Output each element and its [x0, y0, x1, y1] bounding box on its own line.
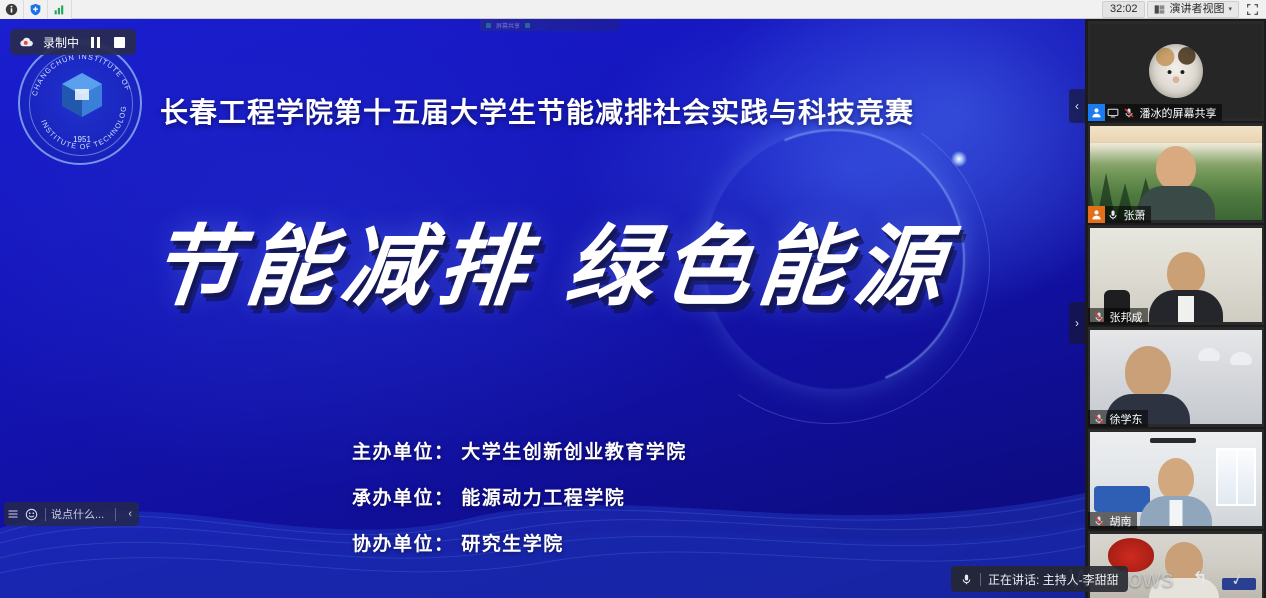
presenter-view-label: 演讲者视图: [1169, 3, 1224, 16]
mic-muted-icon: [1091, 308, 1107, 325]
shield-plus-icon[interactable]: [24, 0, 48, 19]
screen-share-icon: [1105, 104, 1121, 121]
mic-muted-icon: [1091, 512, 1107, 529]
participant-icon: [1088, 104, 1105, 121]
toolbar-left-icons: [0, 0, 72, 19]
participant-name: 胡南: [1107, 513, 1132, 529]
emoji-icon[interactable]: [22, 502, 40, 526]
toolbar-right-controls: 32:02 演讲者视图 ▾: [1102, 0, 1266, 19]
mic-icon: [960, 573, 973, 586]
logo-year: 1951: [73, 135, 91, 144]
participant-name: 张萧: [1121, 207, 1146, 223]
participant-tile[interactable]: 张邦成: [1088, 225, 1264, 325]
participant-tile[interactable]: 徐学东: [1088, 327, 1264, 427]
organizer-line: 承办单位： 能源动力工程学院: [352, 483, 687, 510]
tile-badges: 潘冰的屏幕共享: [1088, 104, 1222, 121]
panel-expand-chevron[interactable]: ›: [1069, 302, 1085, 344]
speaking-status-bar: 正在讲话: 主持人-李甜甜: [951, 566, 1128, 592]
mic-muted-icon: [1091, 410, 1107, 427]
cloud-record-icon: [19, 36, 34, 49]
info-icon[interactable]: [0, 0, 24, 19]
layout-icon: [1154, 4, 1165, 15]
shared-app-toolbar-hint: 屏幕共享: [480, 19, 620, 31]
organizer-line: 协办单位： 研究生学院: [352, 529, 687, 556]
person-silhouette: [1149, 252, 1223, 322]
recording-label: 录制中: [43, 34, 79, 51]
chat-input-placeholder[interactable]: 说点什么...: [51, 506, 110, 522]
pause-recording-button[interactable]: [88, 35, 103, 50]
participant-tile[interactable]: 张萧: [1088, 123, 1264, 223]
shared-screen-slide: 屏幕共享 CHANGCHU: [0, 19, 1085, 598]
participant-panel[interactable]: 潘冰的屏幕共享 张萧: [1085, 19, 1266, 598]
fullscreen-icon[interactable]: [1241, 1, 1263, 18]
slide-title: 长春工程学院第十五届大学生节能减排社会实践与科技竞赛: [160, 91, 1030, 131]
host-icon: [1088, 206, 1105, 223]
list-icon[interactable]: [4, 502, 22, 526]
stop-recording-button[interactable]: [112, 35, 127, 50]
person-silhouette: [1140, 458, 1212, 526]
mic-muted-icon: [1121, 104, 1137, 121]
meeting-timer: 32:02: [1102, 1, 1146, 18]
tile-badges: 张邦成: [1088, 308, 1148, 325]
tile-badges: 徐学东: [1088, 410, 1148, 427]
university-logo: CHANGCHUN INSTITUTE OF INSTITUTE OF TECH…: [18, 41, 142, 165]
chevron-left-icon[interactable]: ‹: [121, 502, 139, 526]
participant-name: 徐学东: [1107, 411, 1143, 427]
speaking-text: 正在讲话: 主持人-李甜甜: [988, 571, 1119, 588]
tile-badges: 胡南: [1088, 512, 1137, 529]
chat-input-bar[interactable]: 说点什么... ‹: [4, 502, 139, 526]
presenter-view-dropdown[interactable]: 演讲者视图 ▾: [1147, 1, 1239, 18]
meeting-window: 32:02 演讲者视图 ▾ 屏幕共享: [0, 0, 1266, 598]
participant-tile[interactable]: 胡南: [1088, 429, 1264, 529]
tile-badges: 张萧: [1088, 206, 1151, 223]
recording-indicator: 录制中: [10, 29, 136, 55]
slide-spark: [951, 151, 967, 167]
participant-name: 潘冰的屏幕共享: [1137, 105, 1217, 121]
mic-icon: [1105, 206, 1121, 223]
undo-arrow-icon[interactable]: ↰: [1192, 568, 1208, 591]
participant-name: 张邦成: [1107, 309, 1143, 325]
top-toolbar: 32:02 演讲者视图 ▾: [0, 0, 1266, 19]
cube-emblem: [62, 73, 102, 117]
organizer-line: 主办单位： 大学生创新创业教育学院: [352, 437, 687, 464]
chevron-down-icon: ▾: [1228, 3, 1232, 16]
organizer-list: 主办单位： 大学生创新创业教育学院 承办单位： 能源动力工程学院 协办单位： 研…: [352, 437, 687, 575]
person-silhouette: [1149, 542, 1219, 598]
slide-headline: 节能减排 绿色能源: [145, 221, 955, 313]
signal-bars-icon[interactable]: [48, 0, 72, 19]
participant-tile[interactable]: 潘冰的屏幕共享: [1088, 21, 1264, 121]
panel-collapse-chevron[interactable]: ‹: [1069, 89, 1085, 123]
